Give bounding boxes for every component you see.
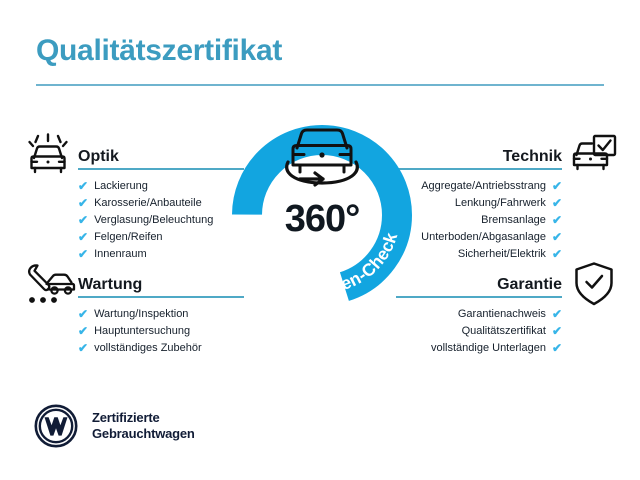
shield-check-icon [572,261,616,307]
check-icon: ✔ [552,246,562,263]
page-title: Qualitätszertifikat [36,34,282,68]
check-icon: ✔ [552,340,562,357]
list-item: ✔Karosserie/Anbauteile [78,195,244,212]
quality-certificate-page: Qualitätszertifikat Optik ✔Lackierung ✔K… [0,0,640,480]
list-item: ✔Hauptuntersuchung [78,323,244,340]
check-icon: ✔ [552,323,562,340]
section-optik: Optik ✔Lackierung ✔Karosserie/Anbauteile… [78,140,244,166]
list-item-label: Garantienachweis [458,306,546,323]
list-item-label: Hauptuntersuchung [94,323,190,340]
check-icon: ✔ [552,178,562,195]
section-optik-divider [78,168,244,170]
check-icon: ✔ [552,306,562,323]
section-wartung-items: ✔Wartung/Inspektion ✔Hauptuntersuchung ✔… [78,306,244,357]
list-item: Qualitätszertifikat✔ [396,323,562,340]
check-icon: ✔ [78,212,88,229]
list-item-label: Lackierung [94,178,148,195]
list-item-label: Wartung/Inspektion [94,306,188,323]
list-item-label: vollständige Unterlagen [431,340,546,357]
list-item: ✔Innenraum [78,246,244,263]
check-icon: ✔ [552,195,562,212]
section-optik-header: Optik [78,140,244,166]
section-technik-title: Technik [503,148,562,166]
list-item-label: Lenkung/Fahrwerk [455,195,546,212]
car-shine-icon [24,133,72,177]
check-icon: ✔ [552,229,562,246]
list-item: ✔Lackierung [78,178,244,195]
section-optik-items: ✔Lackierung ✔Karosserie/Anbauteile ✔Verg… [78,178,244,263]
list-item-label: Sicherheit/Elektrik [458,246,546,263]
section-wartung-title: Wartung [78,276,142,294]
footer-logo-block: Zertifizierte Gebrauchtwagen [34,404,195,448]
list-item-label: Bremsanlage [481,212,546,229]
badge-center-label: 360° [222,198,422,241]
list-item-label: Innenraum [94,246,147,263]
section-wartung-header: Wartung [78,268,244,294]
list-item-label: Aggregate/Antriebsstrang [421,178,546,195]
list-item-label: Qualitätszertifikat [462,323,546,340]
list-item-label: Verglasung/Beleuchtung [94,212,213,229]
list-item: vollständige Unterlagen✔ [396,340,562,357]
check-icon: ✔ [78,340,88,357]
section-optik-title: Optik [78,148,119,166]
list-item: ✔Wartung/Inspektion [78,306,244,323]
car-checkbox-icon [568,134,618,176]
list-item-label: Karosserie/Anbauteile [94,195,202,212]
footer-logo-line1: Zertifizierte [92,410,195,426]
list-item-label: Felgen/Reifen [94,229,163,246]
badge-360-check: Gebrauchtwagen-Check 360° [222,112,422,322]
check-icon: ✔ [78,323,88,340]
list-item: ✔vollständiges Zubehör [78,340,244,357]
list-item-label: Unterboden/Abgasanlage [421,229,546,246]
check-icon: ✔ [78,195,88,212]
section-wartung-divider [78,296,244,298]
footer-logo-text: Zertifizierte Gebrauchtwagen [92,410,195,442]
wrench-car-icon [24,263,76,305]
volkswagen-logo [34,404,78,448]
section-wartung: Wartung ✔Wartung/Inspektion ✔Hauptunters… [78,268,244,294]
check-icon: ✔ [78,229,88,246]
footer-logo-line2: Gebrauchtwagen [92,426,195,442]
list-item: ✔Felgen/Reifen [78,229,244,246]
title-divider [36,84,604,86]
list-item-label: vollständiges Zubehör [94,340,202,357]
list-item: ✔Verglasung/Beleuchtung [78,212,244,229]
check-icon: ✔ [78,246,88,263]
check-icon: ✔ [552,212,562,229]
check-icon: ✔ [78,178,88,195]
section-garantie-title: Garantie [497,276,562,294]
check-icon: ✔ [78,306,88,323]
